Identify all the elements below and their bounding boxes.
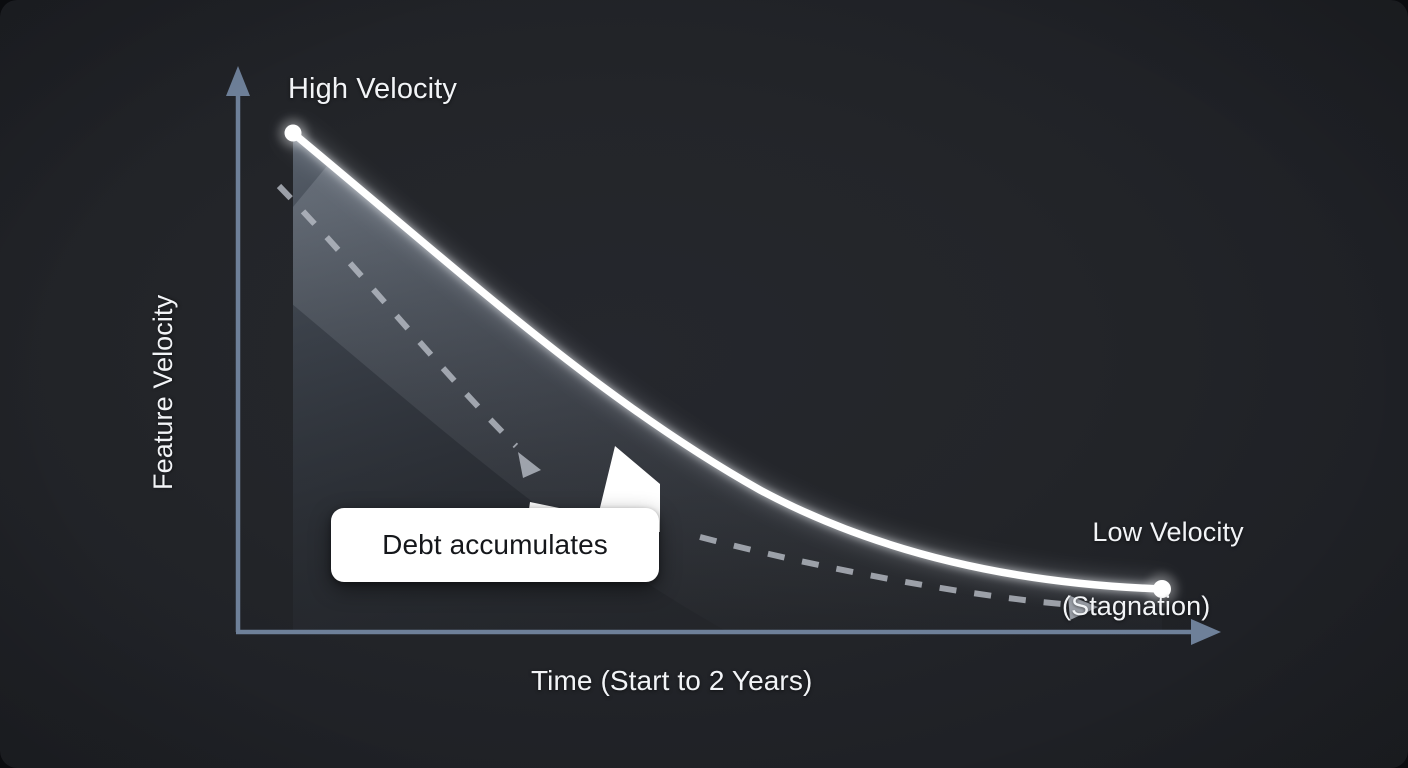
callout-label: Debt accumulates (331, 508, 659, 582)
high-velocity-label: High Velocity (288, 73, 457, 106)
curve-start-marker (278, 118, 308, 148)
debt-accumulates-callout[interactable]: Debt accumulates (331, 508, 659, 582)
x-axis-label: Time (Start to 2 Years) (531, 665, 812, 697)
figure-frame: Debt accumulates High Velocity Low Veloc… (0, 0, 1408, 768)
low-velocity-label-line2: (Stagnation) (1062, 588, 1244, 625)
y-axis-label: Feature Velocity (148, 295, 179, 490)
y-axis (226, 66, 250, 632)
low-velocity-label: Low Velocity (Stagnation) (1062, 477, 1244, 699)
low-velocity-label-line1: Low Velocity (1092, 517, 1243, 547)
